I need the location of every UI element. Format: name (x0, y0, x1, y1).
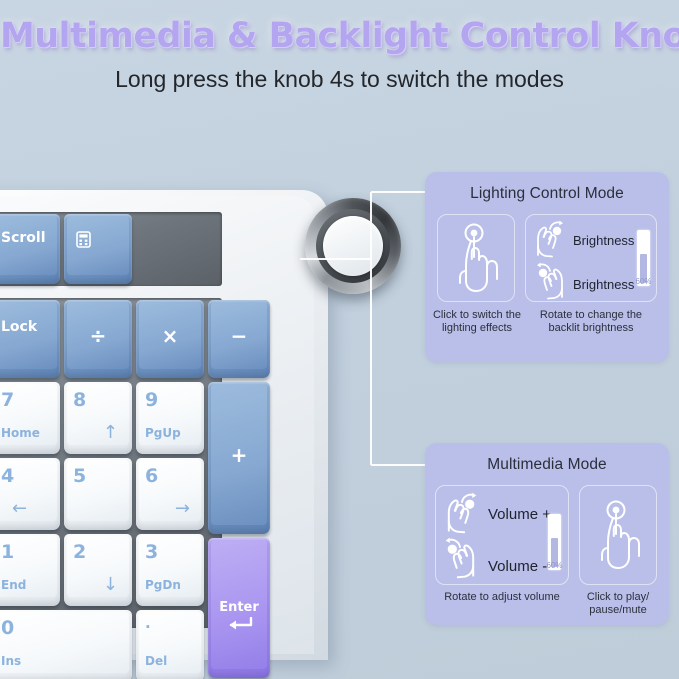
brightness-slider[interactable]: 60% (637, 230, 650, 286)
label-brightness-down: Brightness - (573, 277, 642, 292)
tap-hand-icon (591, 498, 645, 572)
infographic-stage: Multimedia & Backlight Control Knob Long… (0, 0, 679, 679)
label-volume-down: Volume - (488, 558, 547, 575)
panel-multimedia-mode: Multimedia Mode Volume + (425, 443, 669, 625)
panel-lighting-control-mode: Lighting Control Mode Click to switch th… (425, 172, 669, 362)
volume-slider-value: 60% (546, 561, 562, 570)
rotate-clockwise-hand-icon (440, 491, 484, 535)
page-title: Multimedia & Backlight Control Knob (0, 16, 679, 56)
volume-slider[interactable]: 60% (548, 514, 561, 570)
caption-click-play-pause: Click to play/ pause/mute (575, 591, 661, 617)
label-brightness-up: Brightness + (573, 233, 646, 248)
label-volume-up: Volume + (488, 506, 551, 523)
rotate-counterclockwise-hand-icon (438, 536, 482, 580)
page-subtitle: Long press the knob 4s to switch the mod… (0, 66, 679, 93)
header: Multimedia & Backlight Control Knob Long… (0, 0, 679, 110)
card-rotate-volume: Volume + Volume - 60% (435, 485, 569, 585)
caption-rotate-volume: Rotate to adjust volume (429, 591, 575, 604)
card-rotate-brightness: Brightness + Brightness - (525, 214, 657, 302)
tap-hand-icon (449, 223, 503, 293)
brightness-slider-value: 60% (635, 277, 651, 286)
card-click-play-pause (579, 485, 657, 585)
rotate-clockwise-hand-icon (530, 219, 570, 259)
caption-rotate-brightness: Rotate to change the backlit brightness (525, 309, 657, 335)
panel-multimedia-title: Multimedia Mode (425, 443, 669, 474)
card-click-switch-effects (437, 214, 515, 302)
panel-lighting-title: Lighting Control Mode (425, 172, 669, 203)
caption-click-switch-effects: Click to switch the lighting effects (431, 309, 523, 335)
rotate-counterclockwise-hand-icon (530, 261, 570, 301)
